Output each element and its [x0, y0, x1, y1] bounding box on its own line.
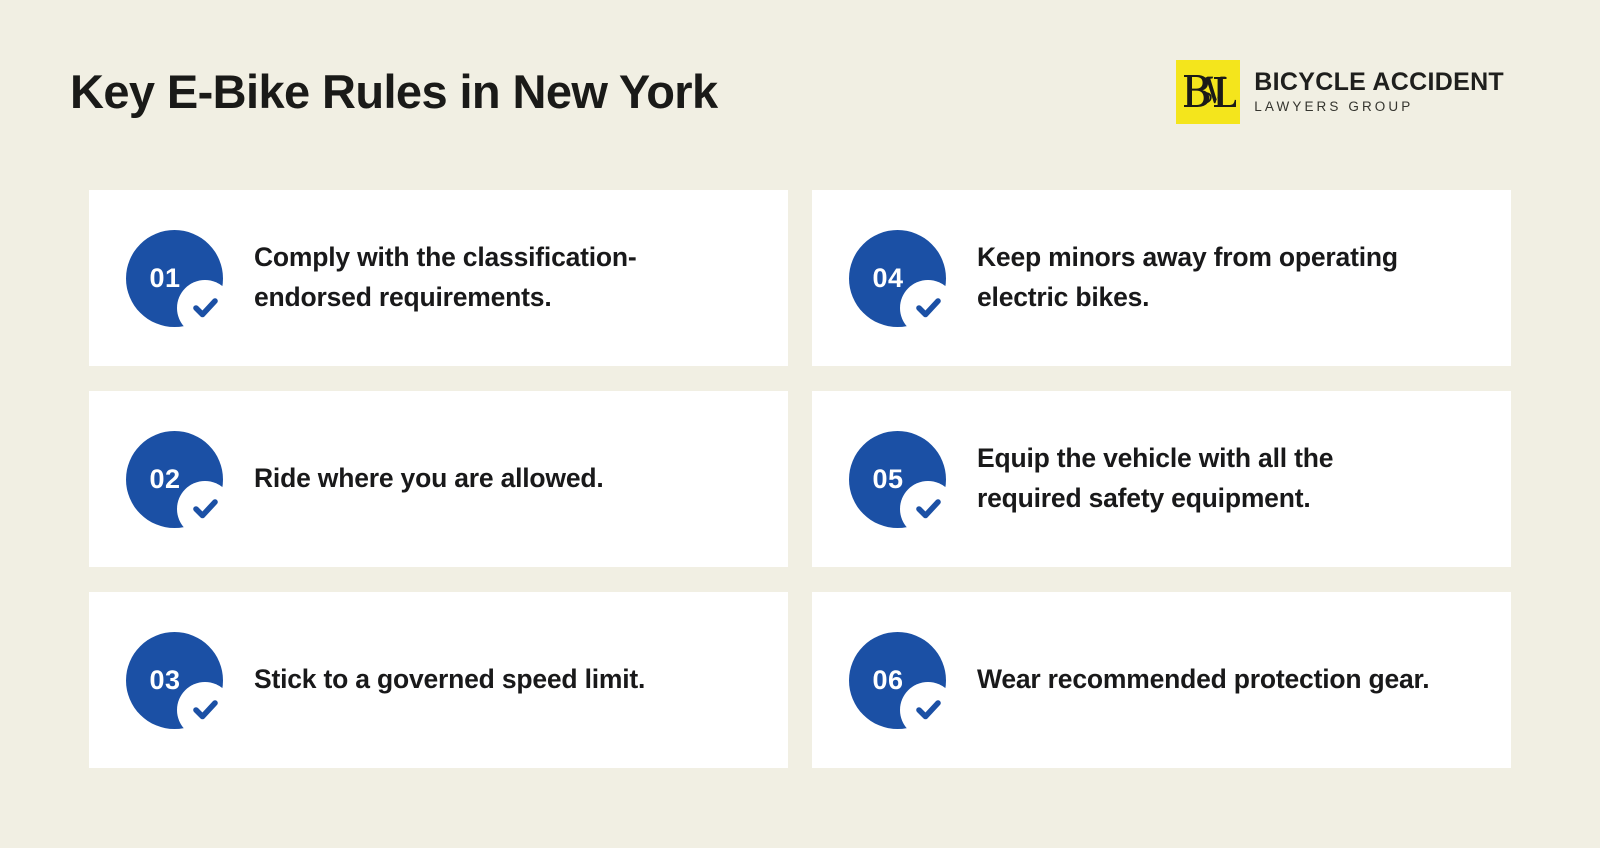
- rule-card[interactable]: 02 Ride where you are allowed.: [89, 391, 788, 567]
- numbered-badge-icon: [126, 431, 223, 528]
- brand-logo[interactable]: BICYCLE ACCIDENT LAWYERS GROUP: [1176, 60, 1504, 124]
- rules-grid: 01 Comply with the classification-endors…: [89, 190, 1511, 768]
- rule-card[interactable]: 04 Keep minors away from operating elect…: [812, 190, 1511, 366]
- rule-text: Stick to a governed speed limit.: [254, 660, 645, 700]
- logo-monogram-mark: [1176, 60, 1240, 124]
- rule-card[interactable]: 06 Wear recommended protection gear.: [812, 592, 1511, 768]
- rule-text: Keep minors away from operating electric…: [977, 238, 1437, 318]
- step-badge: 02: [126, 431, 223, 528]
- rule-text: Ride where you are allowed.: [254, 459, 604, 499]
- rule-text: Wear recommended protection gear.: [977, 660, 1429, 700]
- numbered-badge-icon: [849, 230, 946, 327]
- step-badge: 06: [849, 632, 946, 729]
- bal-monogram-icon: [1180, 66, 1236, 118]
- rule-card[interactable]: 01 Comply with the classification-endors…: [89, 190, 788, 366]
- page-title: Key E-Bike Rules in New York: [70, 64, 718, 119]
- rule-text: Equip the vehicle with all the required …: [977, 439, 1437, 519]
- numbered-badge-icon: [849, 632, 946, 729]
- step-badge: 03: [126, 632, 223, 729]
- numbered-badge-icon: [126, 230, 223, 327]
- rule-card[interactable]: 03 Stick to a governed speed limit.: [89, 592, 788, 768]
- logo-name: BICYCLE ACCIDENT: [1254, 69, 1504, 95]
- infographic-page: Key E-Bike Rules in New York BICYCLE ACC…: [0, 0, 1600, 848]
- rule-card[interactable]: 05 Equip the vehicle with all the requir…: [812, 391, 1511, 567]
- step-badge: 05: [849, 431, 946, 528]
- numbered-badge-icon: [849, 431, 946, 528]
- step-badge: 01: [126, 230, 223, 327]
- header: Key E-Bike Rules in New York BICYCLE ACC…: [0, 0, 1600, 183]
- logo-tagline: LAWYERS GROUP: [1254, 100, 1504, 115]
- step-badge: 04: [849, 230, 946, 327]
- numbered-badge-icon: [126, 632, 223, 729]
- logo-wordmark: BICYCLE ACCIDENT LAWYERS GROUP: [1254, 69, 1504, 115]
- rule-text: Comply with the classification-endorsed …: [254, 238, 714, 318]
